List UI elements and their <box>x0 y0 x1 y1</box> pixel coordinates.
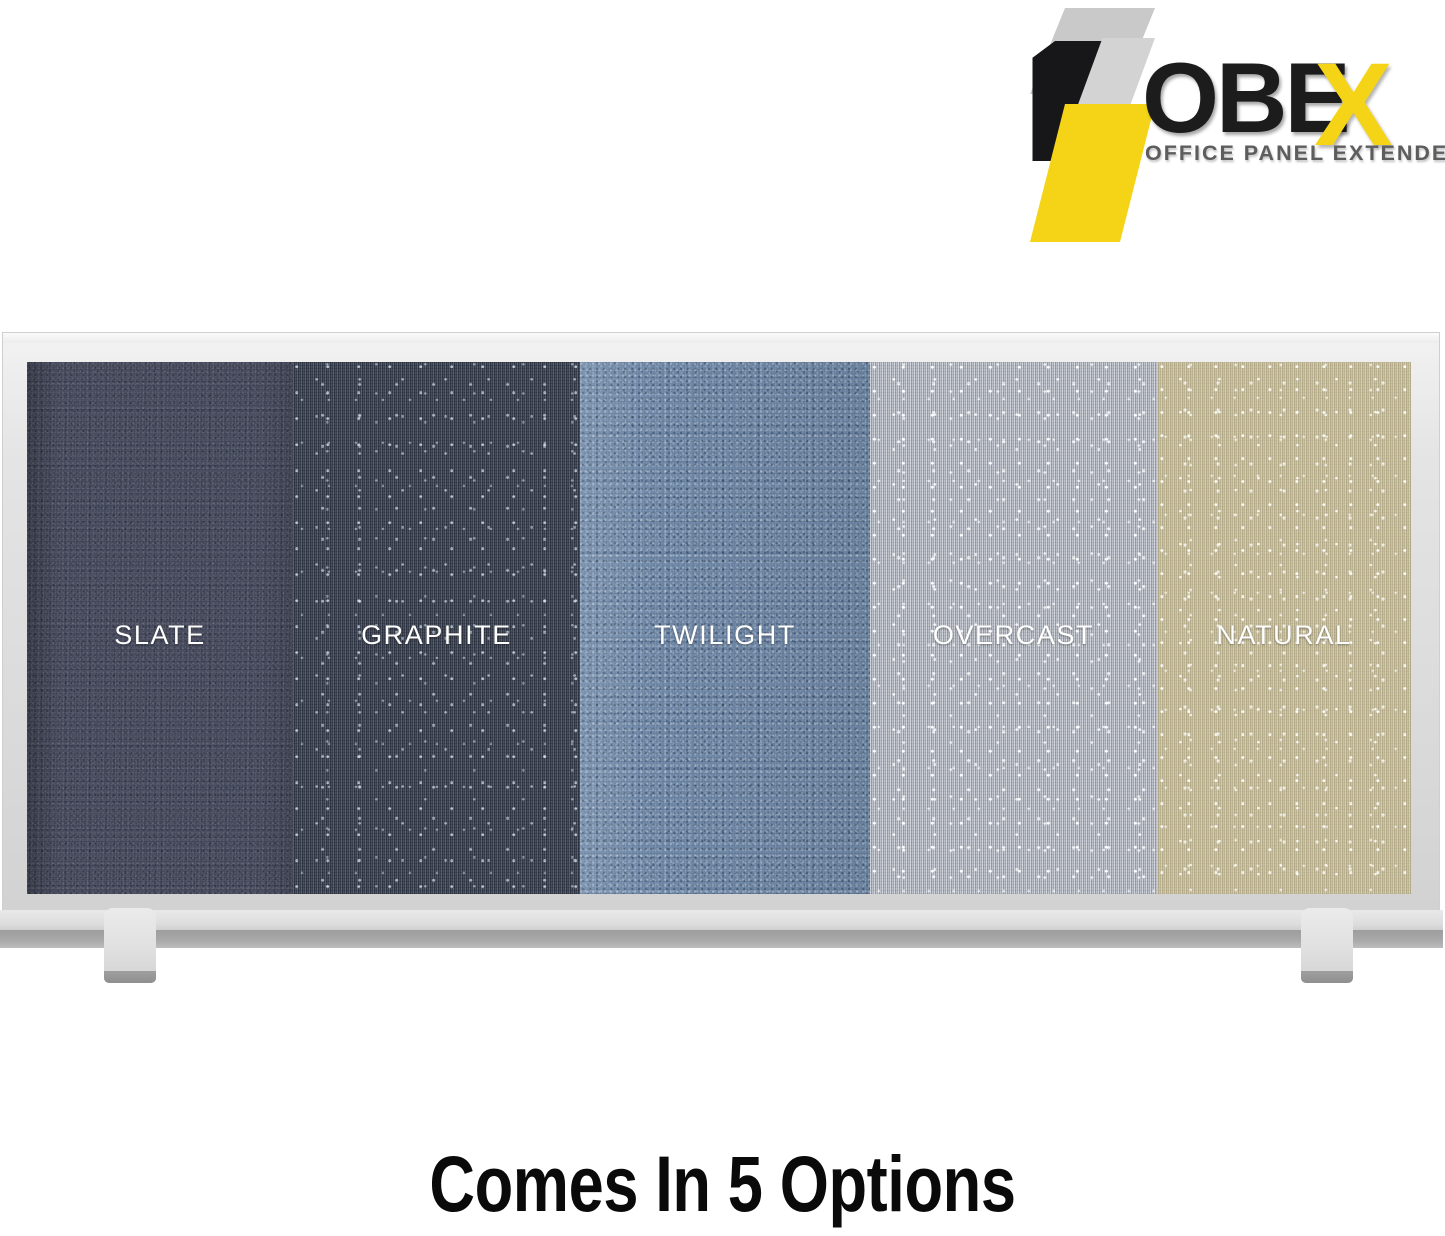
fabric-label-natural: NATURAL <box>1157 620 1411 651</box>
brand-wordmark: OBE X OFFICE PANEL EXTENDERS <box>1142 48 1442 178</box>
fabric-swatch-strip: SLATE GRAPHITE TWILIGHT OVERCAST <box>27 362 1411 894</box>
fabric-label-twilight: TWILIGHT <box>580 620 870 651</box>
panel-frame: SLATE GRAPHITE TWILIGHT OVERCAST <box>2 332 1440 915</box>
obex-chevron-mark-icon <box>1030 8 1155 238</box>
panel-foot-left <box>104 908 156 983</box>
fabric-label-slate: SLATE <box>27 620 293 651</box>
fabric-swatch-natural[interactable]: NATURAL <box>1157 362 1411 894</box>
brand-logo: OBE X OFFICE PANEL EXTENDERS <box>1030 0 1435 250</box>
fabric-swatch-slate[interactable]: SLATE <box>27 362 293 894</box>
fabric-label-graphite: GRAPHITE <box>293 620 580 651</box>
caption-text: Comes In 5 Options <box>145 1138 1301 1230</box>
panel-foot-left-base <box>104 971 156 983</box>
fabric-swatch-twilight[interactable]: TWILIGHT <box>580 362 870 894</box>
fabric-swatch-overcast[interactable]: OVERCAST <box>870 362 1157 894</box>
panel-bottom-shadow <box>0 930 1443 948</box>
fabric-label-overcast: OVERCAST <box>870 620 1157 651</box>
panel-foot-right-base <box>1301 971 1353 983</box>
fabric-swatch-graphite[interactable]: GRAPHITE <box>293 362 580 894</box>
panel-bottom-rail <box>0 910 1443 932</box>
brand-tagline: OFFICE PANEL EXTENDERS <box>1145 141 1445 166</box>
panel-frame-top-highlight <box>3 333 1439 343</box>
panel-extender-product-image: SLATE GRAPHITE TWILIGHT OVERCAST <box>0 332 1443 992</box>
panel-foot-right <box>1301 908 1353 983</box>
